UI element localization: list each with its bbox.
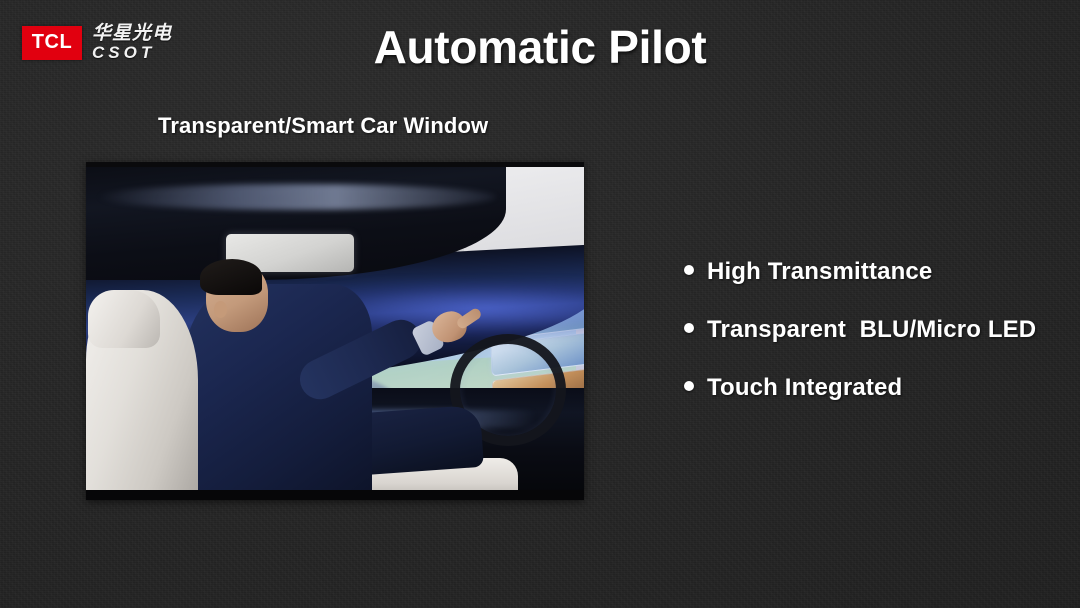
list-item: Touch Integrated <box>684 374 1044 402</box>
bullet-label: Touch Integrated <box>707 374 902 402</box>
list-item: Transparent BLU/Micro LED <box>684 316 1044 344</box>
bullet-dot-icon <box>684 381 694 391</box>
list-item: High Transmittance <box>684 258 1044 286</box>
presentation-slide: TCL 华星光电 CSOT Automatic Pilot Transparen… <box>0 0 1080 608</box>
car-interior-photo <box>86 162 584 500</box>
bullet-label: Transparent BLU/Micro LED <box>707 316 1036 344</box>
photo-person-ear <box>214 301 227 318</box>
bullet-dot-icon <box>684 265 694 275</box>
section-subtitle: Transparent/Smart Car Window <box>158 113 488 139</box>
photo-bottom-border <box>86 490 584 500</box>
page-title: Automatic Pilot <box>0 20 1080 74</box>
bullet-dot-icon <box>684 323 694 333</box>
photo-headrest <box>88 290 160 348</box>
photo-person-hair <box>200 259 262 295</box>
photo-top-border <box>86 162 584 167</box>
feature-bullet-list: High Transmittance Transparent BLU/Micro… <box>684 258 1044 402</box>
photo-headliner-sheen <box>96 184 496 210</box>
bullet-label: High Transmittance <box>707 258 932 286</box>
